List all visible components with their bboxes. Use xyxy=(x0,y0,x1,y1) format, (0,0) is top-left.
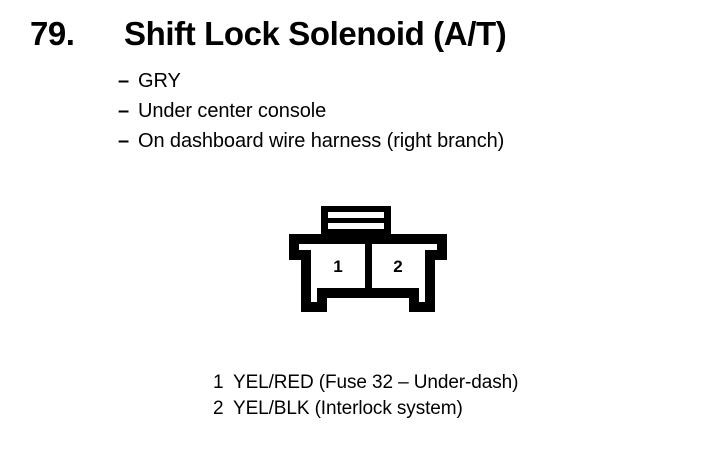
description-item-label: GRY xyxy=(138,66,181,96)
pin-number-2: 2 xyxy=(393,257,402,276)
legend-row: 1 YEL/RED (Fuse 32 – Under-dash) xyxy=(213,370,683,396)
pin-legend: 1 YEL/RED (Fuse 32 – Under-dash) 2 YEL/B… xyxy=(213,370,683,422)
connector-illustration: 1 2 xyxy=(283,202,453,324)
page-title: Shift Lock Solenoid (A/T) xyxy=(124,14,506,54)
description-item-label: Under center console xyxy=(138,96,326,126)
legend-pin-number: 1 xyxy=(213,370,233,396)
description-item-0: – GRY xyxy=(118,66,678,96)
description-item-2: – On dashboard wire harness (right branc… xyxy=(118,126,678,156)
description-item-1: – Under center console xyxy=(118,96,678,126)
description-list: – GRY – Under center console – On dashbo… xyxy=(118,66,678,156)
dash-bullet-icon: – xyxy=(118,126,138,156)
legend-row: 2 YEL/BLK (Interlock system) xyxy=(213,396,683,422)
item-number: 79. xyxy=(30,14,74,54)
dash-bullet-icon: – xyxy=(118,96,138,126)
connector-locking-tab xyxy=(321,206,391,236)
description-item-label: On dashboard wire harness (right branch) xyxy=(138,126,504,156)
legend-pin-number: 2 xyxy=(213,396,233,422)
legend-pin-description: YEL/BLK (Interlock system) xyxy=(233,396,463,422)
pin-number-1: 1 xyxy=(333,257,342,276)
page-header: 79. Shift Lock Solenoid (A/T) xyxy=(0,14,704,56)
legend-pin-description: YEL/RED (Fuse 32 – Under-dash) xyxy=(233,370,518,396)
connector-pin-divider xyxy=(365,234,372,290)
connector-diagram: 1 2 xyxy=(283,202,453,324)
dash-bullet-icon: – xyxy=(118,66,138,96)
